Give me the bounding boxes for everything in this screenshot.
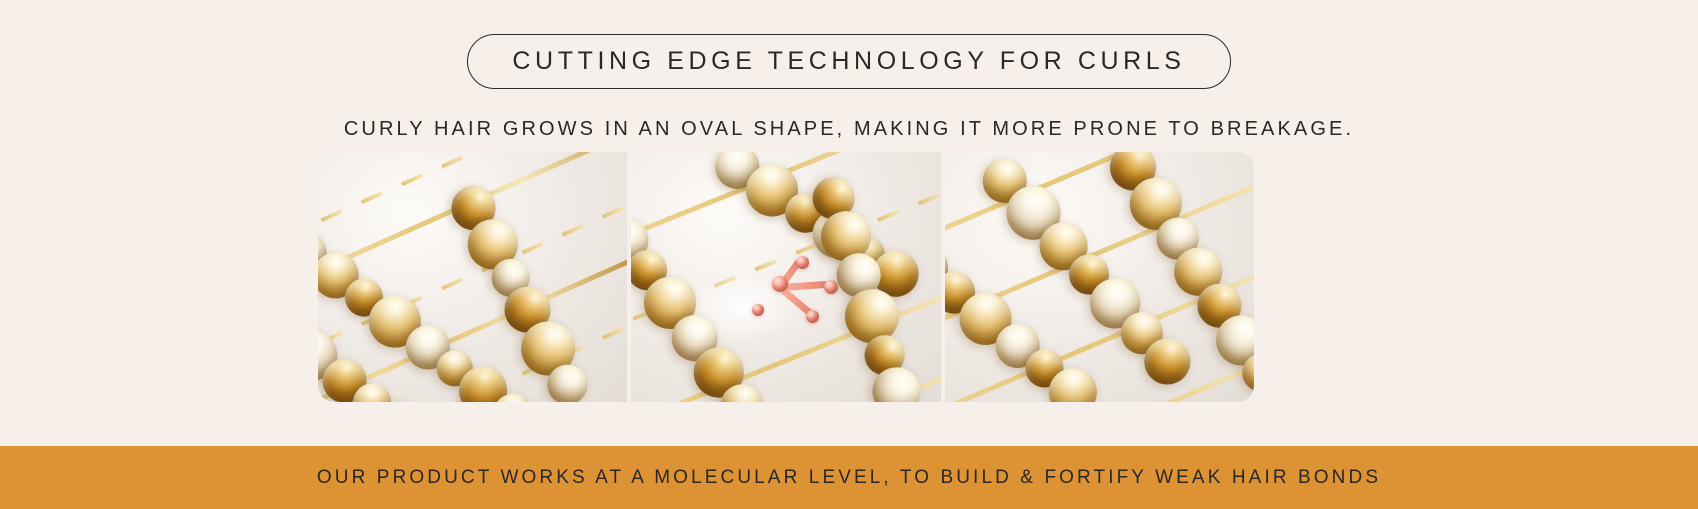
gallery-panel-3 (945, 152, 1254, 402)
promo-banner-stage: CUTTING EDGE TECHNOLOGY FOR CURLS CURLY … (0, 0, 1698, 509)
molecule-node (752, 304, 764, 316)
gallery-panel-2 (631, 152, 940, 402)
gallery-panel-1 (318, 152, 627, 402)
molecule-node (806, 310, 819, 323)
headline-pill: CUTTING EDGE TECHNOLOGY FOR CURLS (467, 34, 1230, 89)
headline-pill-container: CUTTING EDGE TECHNOLOGY FOR CURLS (0, 34, 1698, 89)
molecule-node (796, 256, 809, 269)
image-strip (318, 152, 1254, 402)
molecule-node (824, 280, 838, 294)
subtitle-text: CURLY HAIR GROWS IN AN OVAL SHAPE, MAKIN… (0, 118, 1698, 141)
molecule-node (772, 276, 788, 292)
bottom-banner: OUR PRODUCT WORKS AT A MOLECULAR LEVEL, … (0, 446, 1698, 509)
headline-pill-label: CUTTING EDGE TECHNOLOGY FOR CURLS (512, 49, 1185, 74)
bottom-banner-text: OUR PRODUCT WORKS AT A MOLECULAR LEVEL, … (317, 467, 1381, 489)
